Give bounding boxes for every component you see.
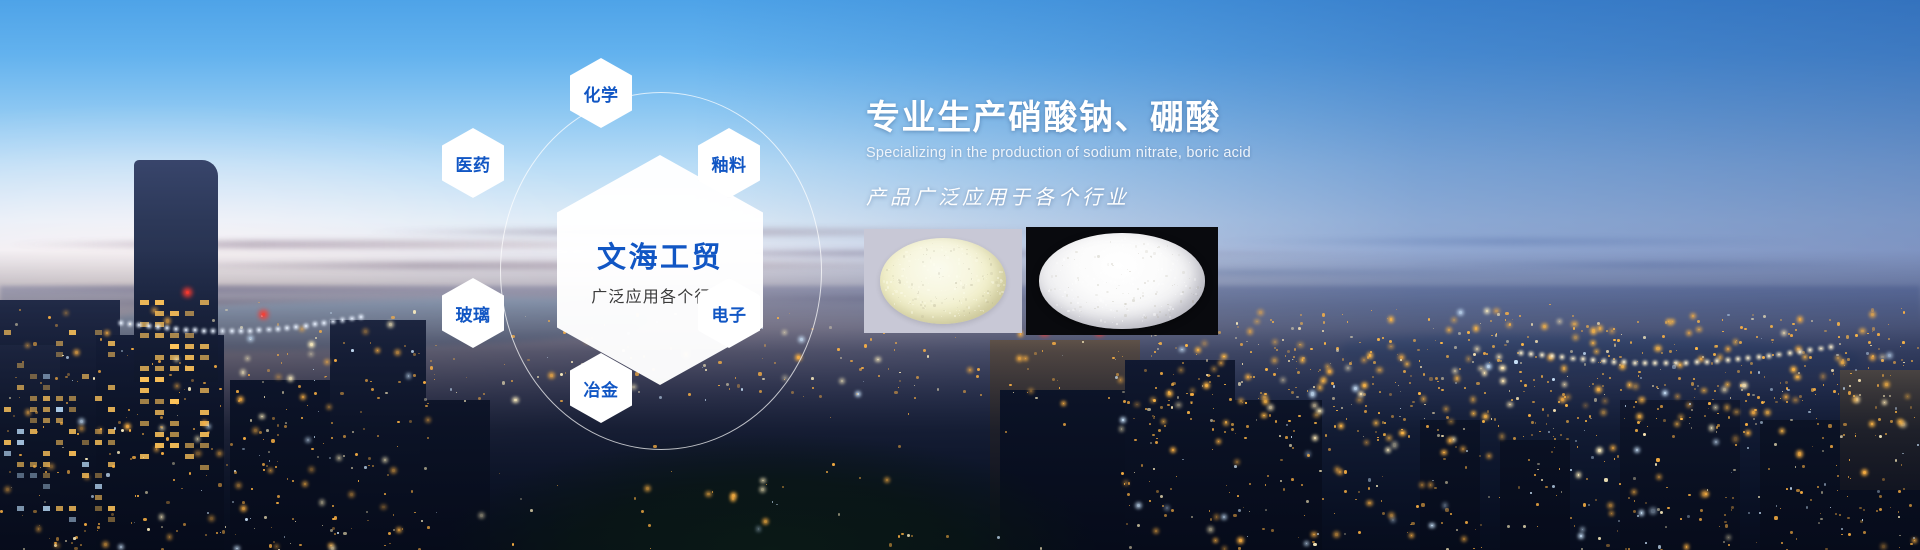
product-photo-boric-acid[interactable] bbox=[1026, 227, 1218, 335]
powder-grain bbox=[1039, 233, 1204, 328]
hex-label: 化学 bbox=[584, 81, 619, 106]
hex-label: 釉料 bbox=[712, 151, 747, 176]
hex-label: 冶金 bbox=[584, 376, 619, 401]
powder-pile bbox=[1039, 233, 1204, 328]
marketing-copy: 专业生产硝酸钠、硼酸 Specializing in the productio… bbox=[866, 98, 1566, 210]
product-photo-sodium-nitrate[interactable] bbox=[864, 229, 1022, 333]
industry-hex-diagram: 文海工贸 广泛应用各个行业 化学 釉料 电子 冶金 玻璃 医药 bbox=[420, 20, 900, 520]
hex-item-glass[interactable]: 玻璃 bbox=[442, 278, 504, 348]
company-name: 文海工贸 bbox=[597, 234, 723, 276]
powder-grain bbox=[880, 238, 1006, 323]
hex-label: 玻璃 bbox=[456, 301, 491, 326]
powder-pile bbox=[880, 238, 1006, 323]
hex-label: 电子 bbox=[712, 301, 747, 326]
hex-label: 医药 bbox=[456, 151, 491, 176]
tagline: 产品广泛应用于各个行业 bbox=[866, 181, 1566, 210]
english-subtitle: Specializing in the production of sodium… bbox=[866, 145, 1566, 161]
headline: 专业生产硝酸钠、硼酸 bbox=[866, 98, 1566, 138]
hex-item-pharma[interactable]: 医药 bbox=[442, 128, 504, 198]
promo-banner: 文海工贸 广泛应用各个行业 化学 釉料 电子 冶金 玻璃 医药 专业生产硝酸钠、… bbox=[0, 0, 1920, 550]
